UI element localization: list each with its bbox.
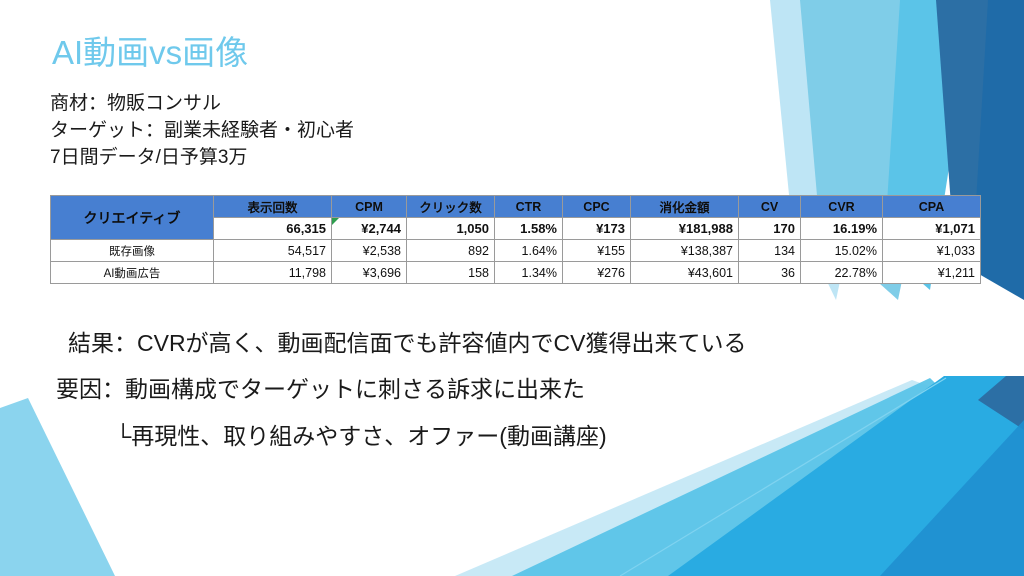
- cell-total-cpc: ¥173: [563, 218, 631, 240]
- subtitle-line-target: ターゲット：副業未経験者・初心者: [50, 117, 354, 144]
- cell-total-cpm: ¥2,744: [332, 218, 407, 240]
- comment-flag-icon: [332, 218, 339, 225]
- cell-aivideo-impressions: 11,798: [214, 262, 332, 284]
- table-corner-header: クリエイティブ: [51, 196, 214, 240]
- column-header-cpa: CPA: [883, 196, 981, 218]
- cell-existing-cpc: ¥155: [563, 240, 631, 262]
- column-header-cpc: CPC: [563, 196, 631, 218]
- cell-existing-cpm: ¥2,538: [332, 240, 407, 262]
- cell-existing-cpa: ¥1,033: [883, 240, 981, 262]
- decor-hairline: [620, 378, 946, 576]
- metrics-table-container: クリエイティブ 表示回数 CPM クリック数 CTR CPC 消化金額 CV C…: [50, 195, 980, 284]
- column-header-ctr: CTR: [495, 196, 563, 218]
- cell-aivideo-spend: ¥43,601: [631, 262, 739, 284]
- cell-total-cv: 170: [739, 218, 801, 240]
- column-header-cpm: CPM: [332, 196, 407, 218]
- cell-existing-cv: 134: [739, 240, 801, 262]
- cell-total-cpm-value: ¥2,744: [361, 221, 401, 236]
- cell-aivideo-cpc: ¥276: [563, 262, 631, 284]
- cell-total-clicks: 1,050: [407, 218, 495, 240]
- decor-shape-bottomright-deep: [880, 420, 1024, 576]
- table-header-row: クリエイティブ 表示回数 CPM クリック数 CTR CPC 消化金額 CV C…: [51, 196, 981, 218]
- subtitle-block: 商材：物販コンサル ターゲット：副業未経験者・初心者 7日間データ/日予算3万: [50, 90, 354, 171]
- cell-total-spend: ¥181,988: [631, 218, 739, 240]
- cell-existing-spend: ¥138,387: [631, 240, 739, 262]
- subtitle-line-period: 7日間データ/日予算3万: [50, 144, 354, 171]
- row-label-ai-video-ad: AI動画広告: [51, 262, 214, 284]
- cell-aivideo-cv: 36: [739, 262, 801, 284]
- note-detail: └再現性、取り組みやすさ、オファー(動画講座): [115, 421, 607, 451]
- subtitle-line-product: 商材：物販コンサル: [50, 90, 354, 117]
- decor-shape-bottomright-bright: [668, 376, 1024, 576]
- page-title: AI動画vs画像: [52, 26, 248, 74]
- cell-total-cpa: ¥1,071: [883, 218, 981, 240]
- note-factor: 要因：動画構成でターゲットに刺さる訴求に出来た: [56, 374, 585, 404]
- column-header-spend: 消化金額: [631, 196, 739, 218]
- column-header-cv: CV: [739, 196, 801, 218]
- decor-shape-bottomright-pale: [455, 380, 1024, 576]
- decor-shape-bottomleft: [0, 398, 115, 576]
- column-header-clicks: クリック数: [407, 196, 495, 218]
- cell-total-ctr: 1.58%: [495, 218, 563, 240]
- cell-aivideo-clicks: 158: [407, 262, 495, 284]
- slide-canvas: AI動画vs画像 商材：物販コンサル ターゲット：副業未経験者・初心者 7日間デ…: [0, 0, 1024, 576]
- cell-aivideo-cvr: 22.78%: [801, 262, 883, 284]
- decor-shape-bottomright-steel: [978, 376, 1024, 430]
- cell-existing-clicks: 892: [407, 240, 495, 262]
- cell-existing-impressions: 54,517: [214, 240, 332, 262]
- decor-shape-bottomright-mid: [512, 378, 1024, 576]
- table-row: 既存画像 54,517 ¥2,538 892 1.64% ¥155 ¥138,3…: [51, 240, 981, 262]
- cell-existing-cvr: 15.02%: [801, 240, 883, 262]
- column-header-cvr: CVR: [801, 196, 883, 218]
- cell-existing-ctr: 1.64%: [495, 240, 563, 262]
- cell-total-impressions: 66,315: [214, 218, 332, 240]
- cell-aivideo-cpm: ¥3,696: [332, 262, 407, 284]
- cell-aivideo-cpa: ¥1,211: [883, 262, 981, 284]
- note-result: 結果：CVRが高く、動画配信面でも許容値内でCV獲得出来ている: [68, 328, 747, 358]
- metrics-table: クリエイティブ 表示回数 CPM クリック数 CTR CPC 消化金額 CV C…: [50, 195, 981, 284]
- column-header-impressions: 表示回数: [214, 196, 332, 218]
- cell-aivideo-ctr: 1.34%: [495, 262, 563, 284]
- table-row: AI動画広告 11,798 ¥3,696 158 1.34% ¥276 ¥43,…: [51, 262, 981, 284]
- row-label-existing-image: 既存画像: [51, 240, 214, 262]
- background-decoration: [0, 0, 1024, 576]
- cell-total-cvr: 16.19%: [801, 218, 883, 240]
